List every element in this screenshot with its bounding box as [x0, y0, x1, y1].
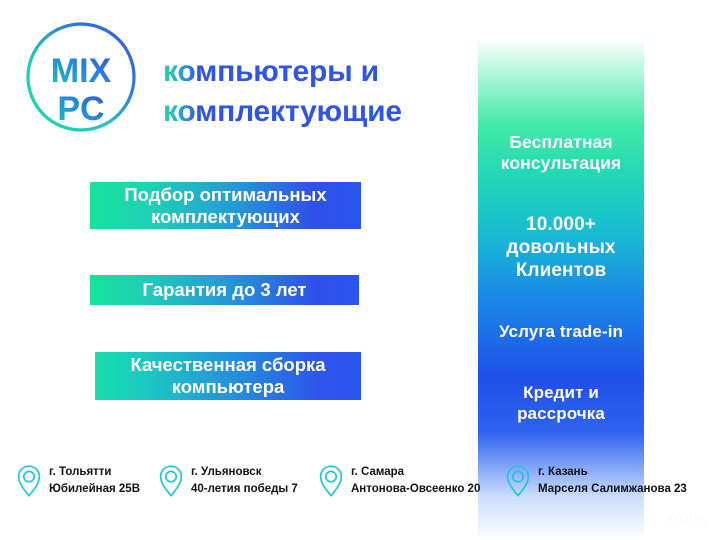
location-address: Антонова-Овсеенко 20: [351, 481, 480, 498]
location-address: Юбилейная 25В: [49, 481, 140, 498]
map-pin-icon: [158, 464, 184, 498]
advertisement-banner: Бесплатная консультация 10.000+ довольны…: [0, 0, 720, 540]
panel-benefit-credit: Кредит и рассрочка: [478, 383, 644, 424]
brand-logo: MIX PC: [22, 18, 152, 136]
logo-text-mix: MIX: [51, 52, 112, 90]
map-pin-icon: [16, 464, 42, 498]
avito-watermark: Avito: [643, 510, 708, 532]
side-panel-content: Бесплатная консультация 10.000+ довольны…: [478, 0, 644, 540]
panel-benefit-tradein: Услуга trade-in: [499, 322, 623, 343]
tagline-line-1-accent: ко: [163, 55, 195, 88]
location-text: г. Ульяновск 40-летия победы 7: [191, 464, 298, 497]
tagline-line-1-rest: мпьютеры и: [195, 55, 379, 88]
panel-benefit-clients: 10.000+ довольных Клиентов: [478, 213, 644, 283]
brand-tagline: компьютеры и комплектующие: [163, 52, 463, 132]
avito-logo-icon: [643, 513, 660, 530]
location-city: г. Самара: [351, 464, 480, 481]
location-city: г. Тольятти: [49, 464, 140, 481]
location-city: г. Ульяновск: [191, 464, 298, 481]
location-address: Марселя Салимжанова 23: [538, 481, 687, 498]
map-pin-icon: [318, 464, 344, 498]
location-text: г. Казань Марселя Салимжанова 23: [538, 464, 687, 497]
feature-box-assembly: Качественная сборка компьютера: [95, 352, 361, 400]
feature-box-warranty: Гарантия до 3 лет: [90, 275, 359, 305]
tagline-line-2: комплектующие: [163, 92, 463, 132]
location-item: г. Ульяновск 40-летия победы 7: [158, 464, 298, 498]
tagline-line-2-rest: мплектующие: [195, 95, 402, 128]
map-pin-icon: [505, 464, 531, 498]
tagline-line-1: компьютеры и: [163, 52, 463, 92]
location-item: г. Тольятти Юбилейная 25В: [16, 464, 140, 498]
panel-benefit-consultation: Бесплатная консультация: [478, 132, 644, 175]
location-item: г. Казань Марселя Салимжанова 23: [505, 464, 687, 498]
logo-text-pc: PC: [57, 90, 104, 128]
location-city: г. Казань: [538, 464, 687, 481]
location-item: г. Самара Антонова-Овсеенко 20: [318, 464, 480, 498]
tagline-line-2-accent: ко: [163, 95, 195, 128]
avito-watermark-text: Avito: [664, 510, 708, 532]
location-text: г. Тольятти Юбилейная 25В: [49, 464, 140, 497]
location-text: г. Самара Антонова-Овсеенко 20: [351, 464, 480, 497]
feature-box-components: Подбор оптимальных комплектующих: [90, 182, 361, 229]
location-address: 40-летия победы 7: [191, 481, 298, 498]
locations-row: г. Тольятти Юбилейная 25В г. Ульяновск 4…: [0, 462, 720, 510]
